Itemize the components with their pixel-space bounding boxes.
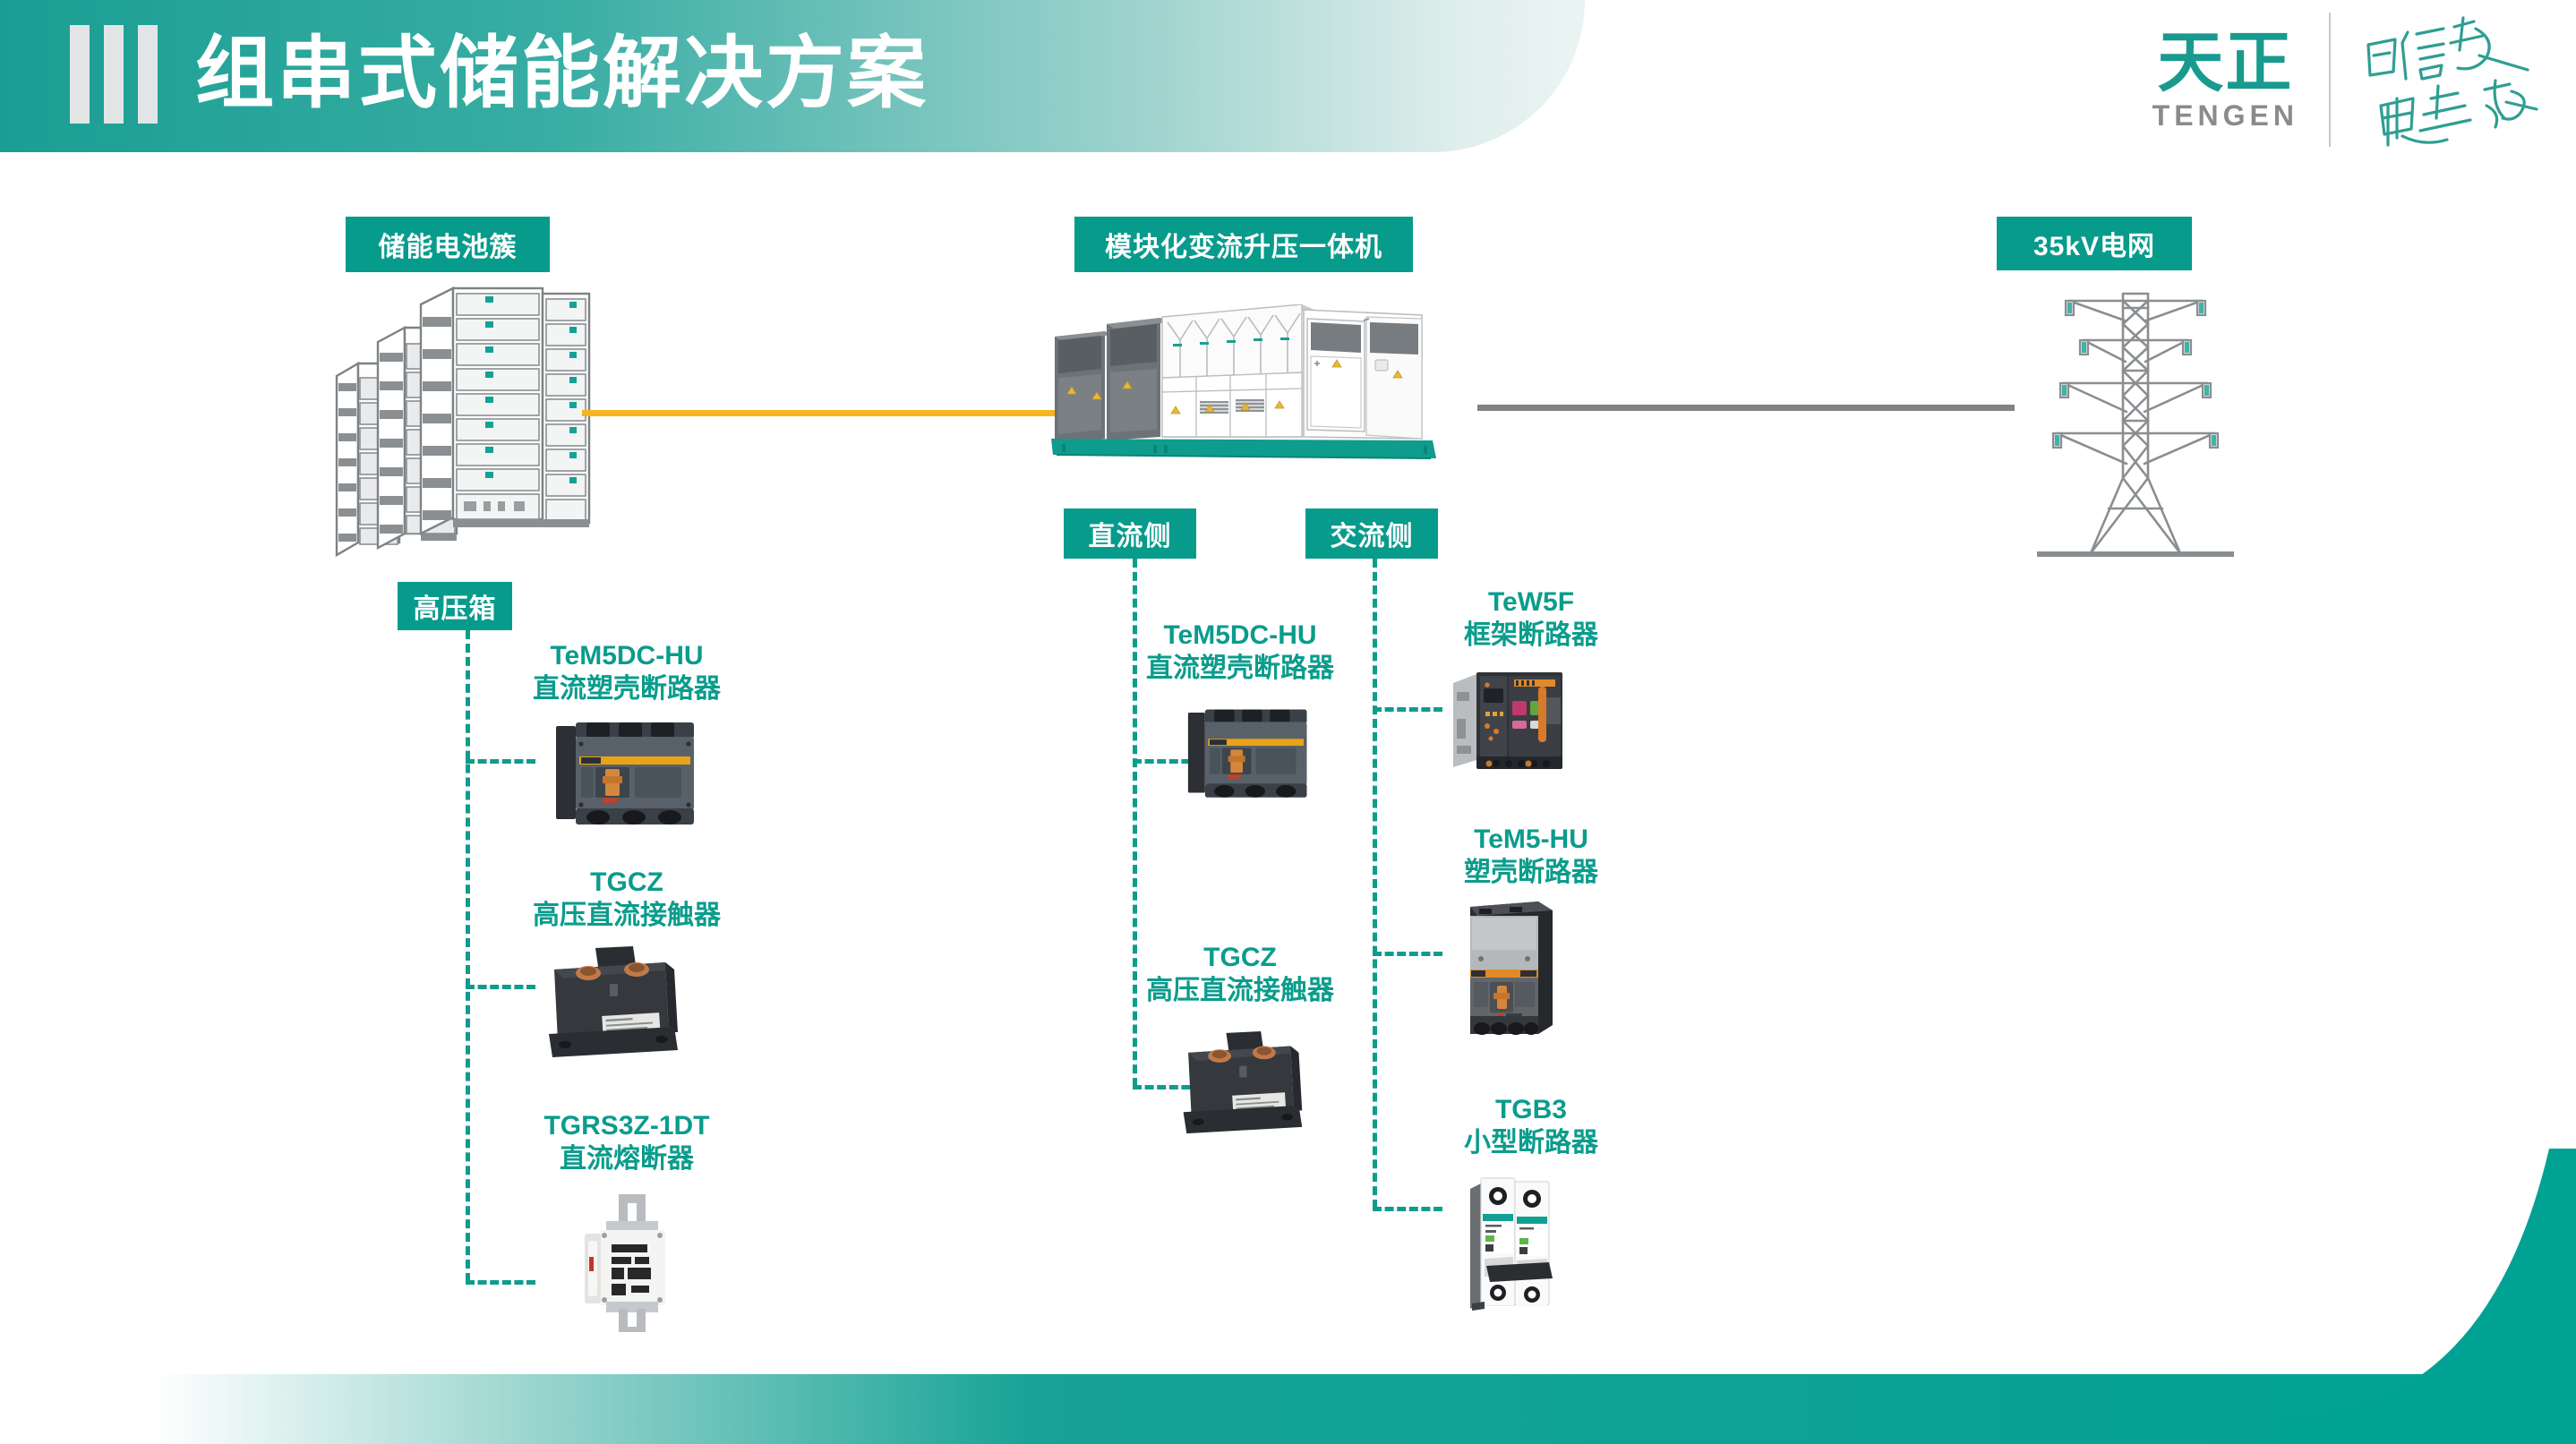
left-branch-3 — [466, 1280, 535, 1285]
chip-dc-side-label: 直流侧 — [1089, 514, 1172, 553]
dc-contactor-icon — [1168, 1030, 1325, 1141]
chip-converter-label: 模块化变流升压一体机 — [1105, 225, 1382, 264]
battery-rack-icon — [322, 278, 600, 568]
dc-contactor-icon — [533, 944, 703, 1065]
ac-branch-1 — [1373, 707, 1442, 712]
mccb-ac-icon — [1459, 900, 1571, 1052]
left-branch-1 — [466, 759, 535, 764]
mcb-icon — [1459, 1173, 1571, 1320]
footer-corner-accent — [2281, 1149, 2576, 1444]
product-label-right-2: TeM5-HU 塑壳断路器 — [1406, 824, 1656, 889]
acb-icon — [1446, 667, 1576, 779]
left-dash-trunk — [466, 630, 470, 1282]
product-label-left-2: TGCZ 高压直流接触器 — [501, 867, 752, 932]
product-desc: 高压直流接触器 — [501, 900, 752, 933]
chip-ac-side-label: 交流侧 — [1331, 514, 1414, 553]
product-label-left-1: TeM5DC-HU 直流塑壳断路器 — [501, 640, 752, 705]
product-code: TeM5DC-HU — [1110, 619, 1370, 653]
product-label-left-3: TGRS3Z-1DT 直流熔断器 — [501, 1110, 752, 1175]
chip-battery-cluster-label: 储能电池簇 — [379, 225, 518, 264]
chip-high-voltage-box-label: 高压箱 — [414, 586, 497, 626]
brand-divider — [2329, 13, 2331, 147]
page-title: 组串式储能解决方案 — [195, 23, 929, 124]
product-code: TGCZ — [501, 867, 752, 900]
product-code: TGRS3Z-1DT — [501, 1110, 752, 1143]
dc-bus-line — [582, 410, 1074, 416]
brand-name-cn: 天正 — [2157, 28, 2293, 98]
product-code: TeM5-HU — [1406, 824, 1656, 857]
converter-container-icon — [1046, 304, 1476, 488]
transmission-tower-icon — [2037, 285, 2234, 568]
product-desc: 小型断路器 — [1406, 1127, 1656, 1160]
product-desc: 框架断路器 — [1406, 619, 1656, 653]
slogan-calligraphy-icon — [2361, 13, 2540, 147]
product-desc: 直流塑壳断路器 — [1110, 653, 1370, 686]
product-code: TGCZ — [1110, 942, 1370, 975]
product-desc: 塑壳断路器 — [1406, 857, 1656, 890]
chip-high-voltage-box: 高压箱 — [398, 582, 512, 630]
brand-name-en: TENGEN — [2152, 99, 2298, 132]
product-desc: 高压直流接触器 — [1110, 975, 1370, 1008]
product-code: TeW5F — [1406, 586, 1656, 619]
product-code: TGB3 — [1406, 1094, 1656, 1127]
tengen-logo: 天正 TENGEN — [2152, 28, 2298, 132]
ac-dash-trunk — [1373, 559, 1377, 1209]
footer-band — [0, 1374, 2576, 1444]
mccb-dc-icon — [1182, 707, 1321, 806]
product-code: TeM5DC-HU — [501, 640, 752, 673]
product-label-right-3: TGB3 小型断路器 — [1406, 1094, 1656, 1159]
product-label-center-1: TeM5DC-HU 直流塑壳断路器 — [1110, 619, 1370, 685]
header-bars-icon — [70, 25, 158, 124]
left-branch-2 — [466, 985, 535, 989]
chip-grid: 35kV电网 — [1997, 217, 2192, 270]
product-label-right-1: TeW5F 框架断路器 — [1406, 586, 1656, 652]
ac-branch-2 — [1373, 952, 1442, 956]
product-desc: 直流塑壳断路器 — [501, 673, 752, 706]
chip-dc-side: 直流侧 — [1064, 508, 1196, 559]
ac-branch-3 — [1373, 1207, 1442, 1211]
product-desc: 直流熔断器 — [501, 1143, 752, 1176]
chip-ac-side: 交流侧 — [1305, 508, 1438, 559]
chip-grid-label: 35kV电网 — [2033, 224, 2155, 263]
chip-battery-cluster: 储能电池簇 — [346, 217, 550, 272]
page-header: 组串式储能解决方案 — [0, 0, 1585, 152]
chip-converter: 模块化变流升压一体机 — [1074, 217, 1413, 272]
mccb-dc-icon — [549, 721, 710, 833]
dc-fuse-icon — [560, 1191, 694, 1338]
product-label-center-2: TGCZ 高压直流接触器 — [1110, 942, 1370, 1007]
brand-lockup: 天正 TENGEN — [2152, 13, 2540, 147]
ac-bus-line — [1477, 405, 2015, 411]
